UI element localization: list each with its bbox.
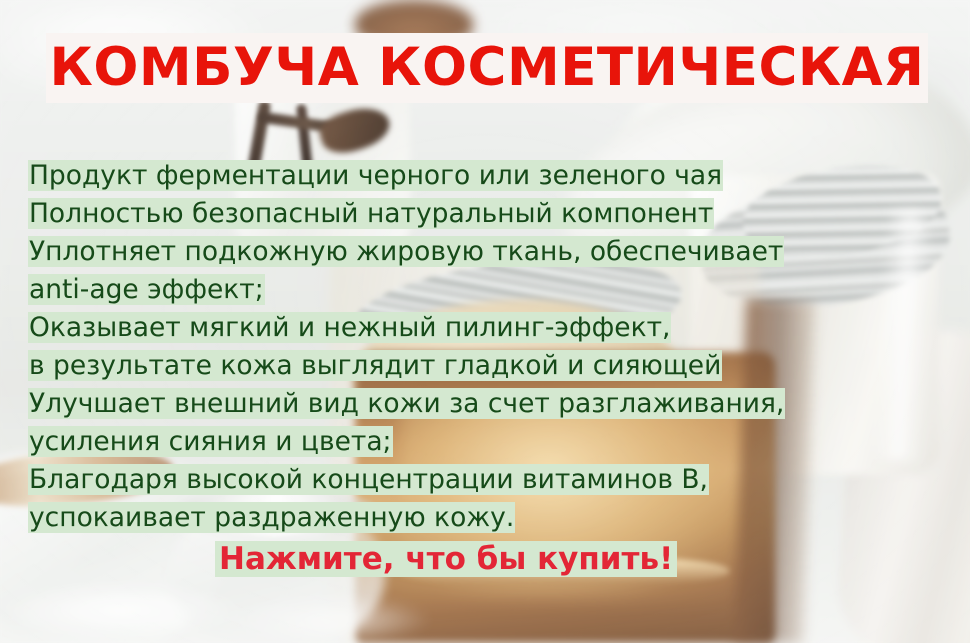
benefit-text: Улучшает внешний вид кожи за счет разгла… <box>28 388 785 419</box>
benefit-item: Оказывает мягкий и нежный пилинг-эффект, <box>28 310 785 348</box>
benefit-item: Улучшает внешний вид кожи за счет разгла… <box>28 386 785 424</box>
cta-label: Нажмите, что бы купить! <box>215 541 677 577</box>
benefits-list: Продукт ферментации черного или зеленого… <box>28 158 785 538</box>
benefit-item: anti-age эффект; <box>28 272 785 310</box>
promo-banner[interactable]: КОМБУЧА КОСМЕТИЧЕСКАЯ Продукт ферментаци… <box>0 0 970 643</box>
benefit-text: anti-age эффект; <box>28 274 265 305</box>
benefit-item: Благодаря высокой концентрации витаминов… <box>28 462 785 500</box>
text-overlay: КОМБУЧА КОСМЕТИЧЕСКАЯ Продукт ферментаци… <box>0 0 970 643</box>
cta-button[interactable]: Нажмите, что бы купить! <box>215 538 677 585</box>
benefit-text: Оказывает мягкий и нежный пилинг-эффект, <box>28 312 671 343</box>
benefit-item: Полностью безопасный натуральный компоне… <box>28 196 785 234</box>
benefit-item: успокаивает раздраженную кожу. <box>28 500 785 538</box>
benefit-text: Полностью безопасный натуральный компоне… <box>28 198 714 229</box>
benefit-text: усиления сияния и цвета; <box>28 426 393 457</box>
banner-title: КОМБУЧА КОСМЕТИЧЕСКАЯ <box>46 33 928 103</box>
benefit-text: Продукт ферментации черного или зеленого… <box>28 160 723 191</box>
benefit-text: Благодаря высокой концентрации витаминов… <box>28 464 709 495</box>
benefit-item: Продукт ферментации черного или зеленого… <box>28 158 785 196</box>
benefit-text: в результате кожа выглядит гладкой и сия… <box>28 350 722 381</box>
benefit-text: Уплотняет подкожную жировую ткань, обесп… <box>28 236 784 267</box>
benefit-item: Уплотняет подкожную жировую ткань, обесп… <box>28 234 785 272</box>
benefit-item: усиления сияния и цвета; <box>28 424 785 462</box>
benefit-item: в результате кожа выглядит гладкой и сия… <box>28 348 785 386</box>
benefit-text: успокаивает раздраженную кожу. <box>28 502 515 533</box>
